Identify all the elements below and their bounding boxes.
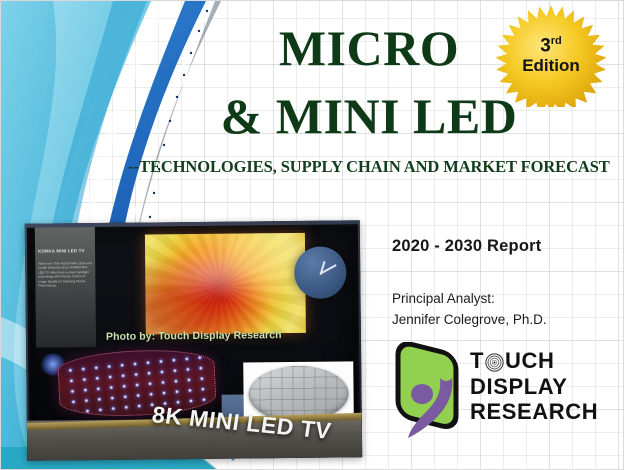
logo-line-research: RESEARCH [470, 399, 598, 425]
logo-mark-icon [386, 342, 472, 438]
report-cover: MICRO & MINI LED --TECHNOLOGIES, SUPPLY … [0, 0, 624, 470]
photo-placard: KONKA MINI LED TV With more Than 40,000 … [35, 227, 96, 348]
logo-line-display: DISPLAY [470, 374, 598, 400]
wall-clock-icon [294, 246, 347, 299]
placard-title: KONKA MINI LED TV [38, 249, 92, 254]
edition-number: 3rd [540, 35, 562, 57]
edition-word: Edition [522, 56, 580, 75]
logo-letters-uch: UCH [505, 348, 554, 374]
logo-line-touch: T UCH [470, 348, 598, 374]
rose-display-image [145, 233, 306, 335]
analyst-block: Principal Analyst: Jennifer Colegrove, P… [392, 289, 547, 331]
edition-badge-text: 3rd Edition [485, 3, 617, 107]
photo-credit: Photo by: Touch Display Research [106, 329, 282, 343]
analyst-name: Jennifer Colegrove, Ph.D. [392, 310, 547, 331]
logo-wordmark: T UCH DISPLAY RESEARCH [470, 348, 598, 425]
edition-badge: 3rd Edition [485, 3, 617, 107]
cover-photo: KONKA MINI LED TV With more Than 40,000 … [25, 220, 362, 460]
report-period: 2020 - 2030 Report [392, 237, 541, 256]
logo-letter-t: T [470, 348, 484, 374]
report-subtitle: --TECHNOLOGIES, SUPPLY CHAIN AND MARKET … [119, 157, 619, 177]
ripple-target-icon [485, 352, 504, 371]
touch-display-research-logo: T UCH DISPLAY RESEARCH [386, 342, 618, 438]
analyst-role: Principal Analyst: [392, 289, 547, 310]
photo-inner: KONKA MINI LED TV With more Than 40,000 … [25, 220, 362, 460]
placard-body: With more Than 40,000 Mini LEDs and loca… [38, 261, 92, 288]
